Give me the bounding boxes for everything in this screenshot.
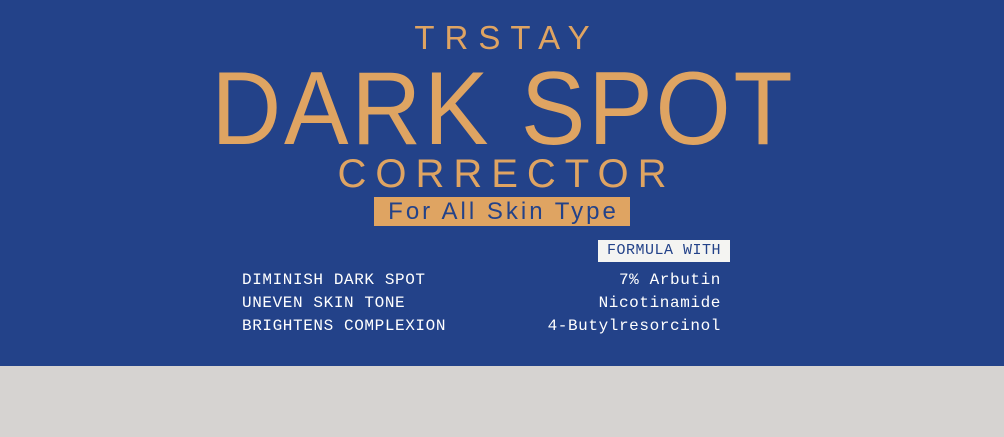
bottom-gray-band xyxy=(0,366,1004,437)
ingredient-item: 4-Butylresorcinol xyxy=(481,315,721,338)
benefit-item: DIMINISH DARK SPOT xyxy=(242,269,446,292)
benefit-item: BRIGHTENS COMPLEXION xyxy=(242,315,446,338)
formula-with-badge: FORMULA WITH xyxy=(598,240,730,262)
benefits-list: DIMINISH DARK SPOT UNEVEN SKIN TONE BRIG… xyxy=(242,269,446,338)
ingredient-item: 7% Arbutin xyxy=(481,269,721,292)
product-banner: TRSTAY DARK SPOT CORRECTOR For All Skin … xyxy=(0,0,1004,437)
skin-type-band-wrapper: For All Skin Type xyxy=(0,197,1004,226)
subhead-title: CORRECTOR xyxy=(0,152,1004,196)
skin-type-badge: For All Skin Type xyxy=(374,197,630,226)
benefit-item: UNEVEN SKIN TONE xyxy=(242,292,446,315)
headline-title: DARK SPOT xyxy=(35,57,969,161)
ingredient-item: Nicotinamide xyxy=(481,292,721,315)
ingredients-list: 7% Arbutin Nicotinamide 4-Butylresorcino… xyxy=(481,269,721,338)
